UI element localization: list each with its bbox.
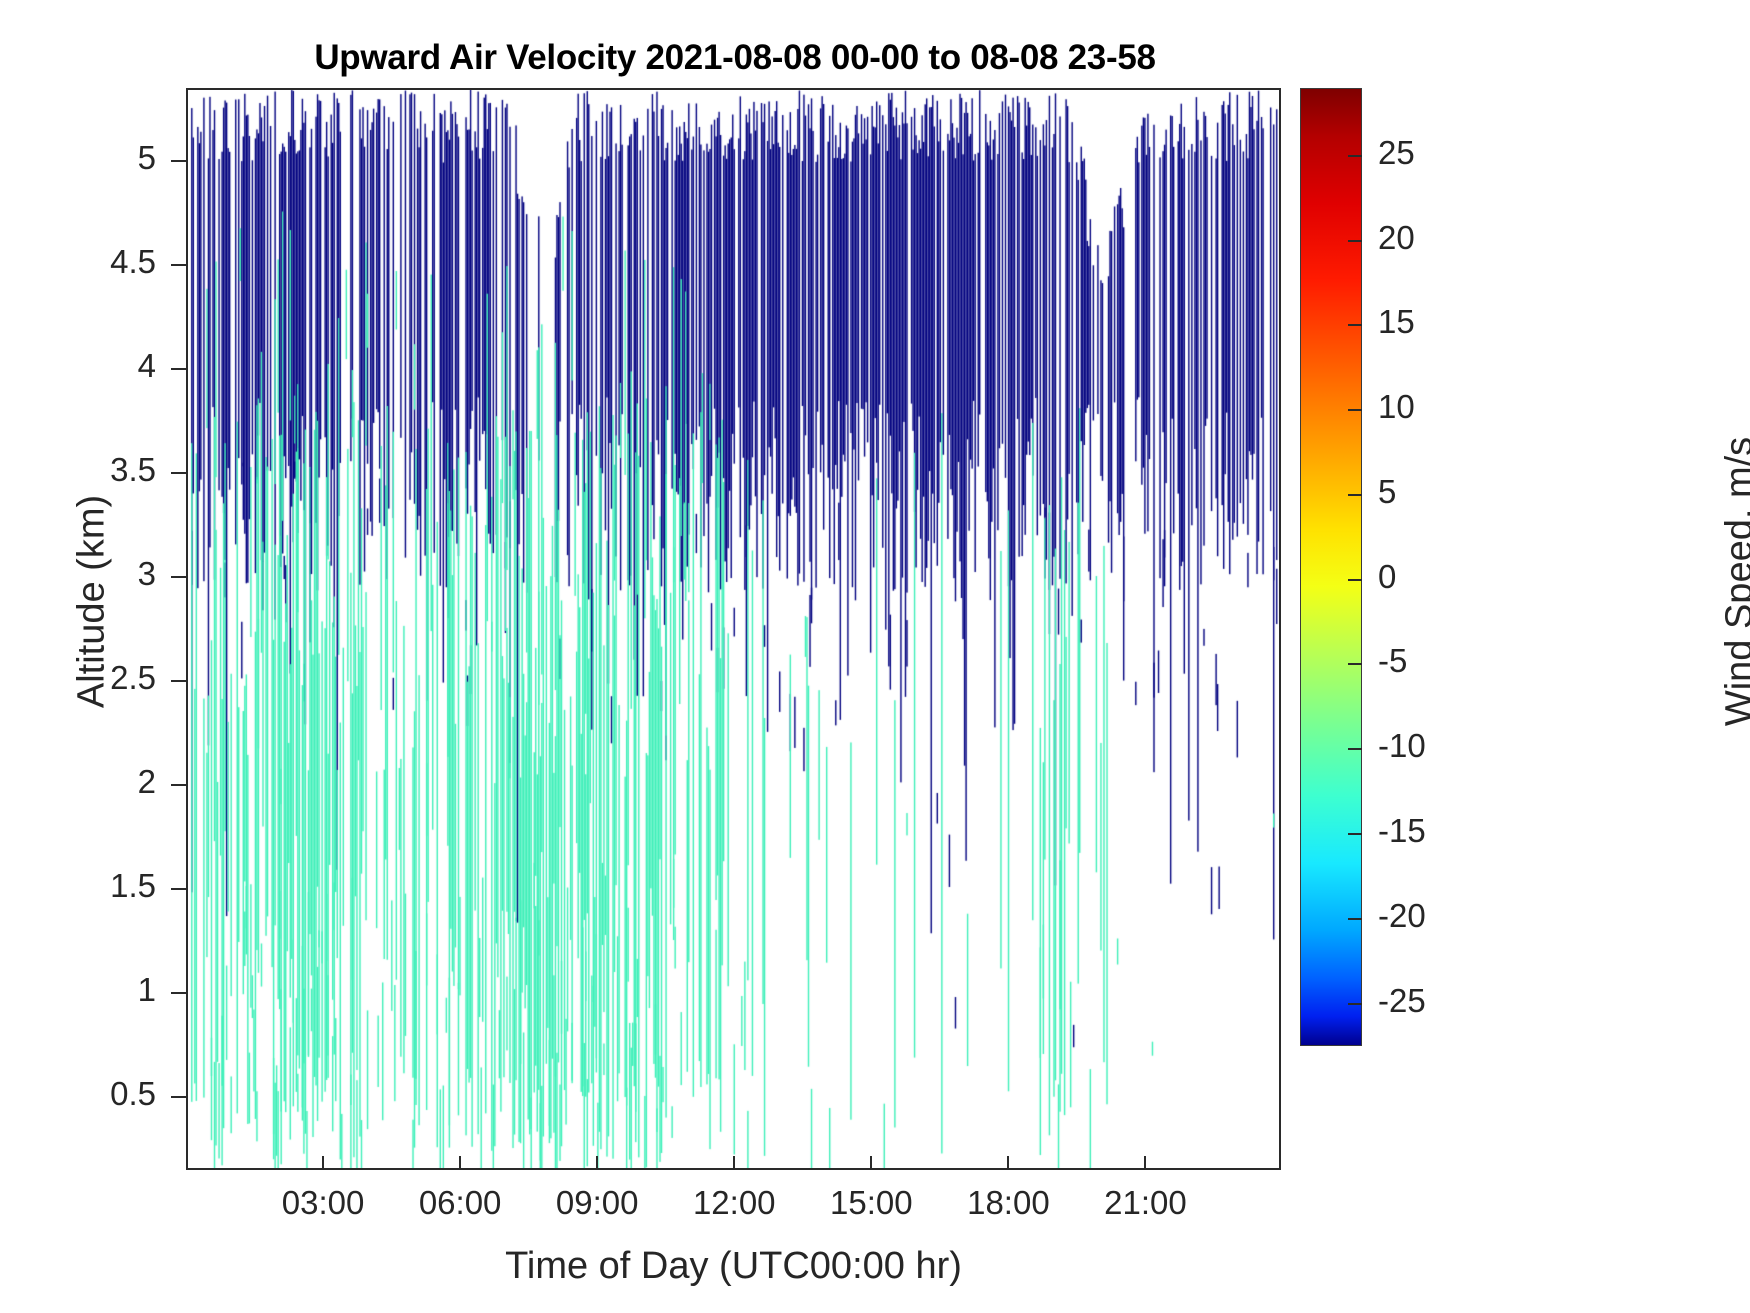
colorbar-tick-label: 25 [1378,134,1415,172]
colorbar-tick-label: -15 [1378,812,1426,850]
colorbar-tick-mark [1348,748,1362,750]
x-tick-mark [459,1156,461,1170]
x-tick-mark [322,1156,324,1170]
colorbar-tick-label: -5 [1378,642,1407,680]
y-axis-label: Altitude (km) [71,282,114,922]
x-tick-mark [870,1156,872,1170]
colorbar-tick-label: 10 [1378,388,1415,426]
x-tick-mark [596,1156,598,1170]
colorbar-tick-label: 0 [1378,558,1396,596]
x-tick-mark [1007,1156,1009,1170]
colorbar-tick-mark [1348,409,1362,411]
colorbar-tick-label: 20 [1378,219,1415,257]
colorbar-tick-label: -25 [1378,982,1426,1020]
colorbar-tick-label: 5 [1378,473,1396,511]
colorbar-label: Wind Speed, m/s [1719,302,1750,862]
colorbar-tick-mark [1348,833,1362,835]
x-tick-label: 09:00 [556,1184,639,1222]
colorbar-tick-mark [1348,918,1362,920]
colorbar-tick-label: 15 [1378,303,1415,341]
x-tick-label: 18:00 [967,1184,1050,1222]
x-tick-mark [733,1156,735,1170]
colorbar-tick-mark [1348,579,1362,581]
colorbar-tick-mark [1348,1003,1362,1005]
x-tick-label: 12:00 [693,1184,776,1222]
colorbar-tick-mark [1348,240,1362,242]
colorbar-tick-mark [1348,324,1362,326]
colorbar-tick-mark [1348,155,1362,157]
colorbar-tick-label: -20 [1378,897,1426,935]
colorbar-tick-label: -10 [1378,727,1426,765]
x-tick-label: 06:00 [419,1184,502,1222]
x-axis-label: Time of Day (UTC00:00 hr) [186,1245,1281,1288]
colorbar[interactable]: 2520151050-5-10-15-20-25 [1300,88,1362,1046]
colorbar-tick-mark [1348,663,1362,665]
x-tick-label: 03:00 [282,1184,365,1222]
x-tick-label: 21:00 [1104,1184,1187,1222]
figure-canvas: Upward Air Velocity 2021-08-08 00-00 to … [0,0,1750,1313]
x-tick-label: 15:00 [830,1184,913,1222]
colorbar-tick-mark [1348,494,1362,496]
colorbar-ticks: 2520151050-5-10-15-20-25 [1300,88,1580,1046]
x-tick-mark [1144,1156,1146,1170]
